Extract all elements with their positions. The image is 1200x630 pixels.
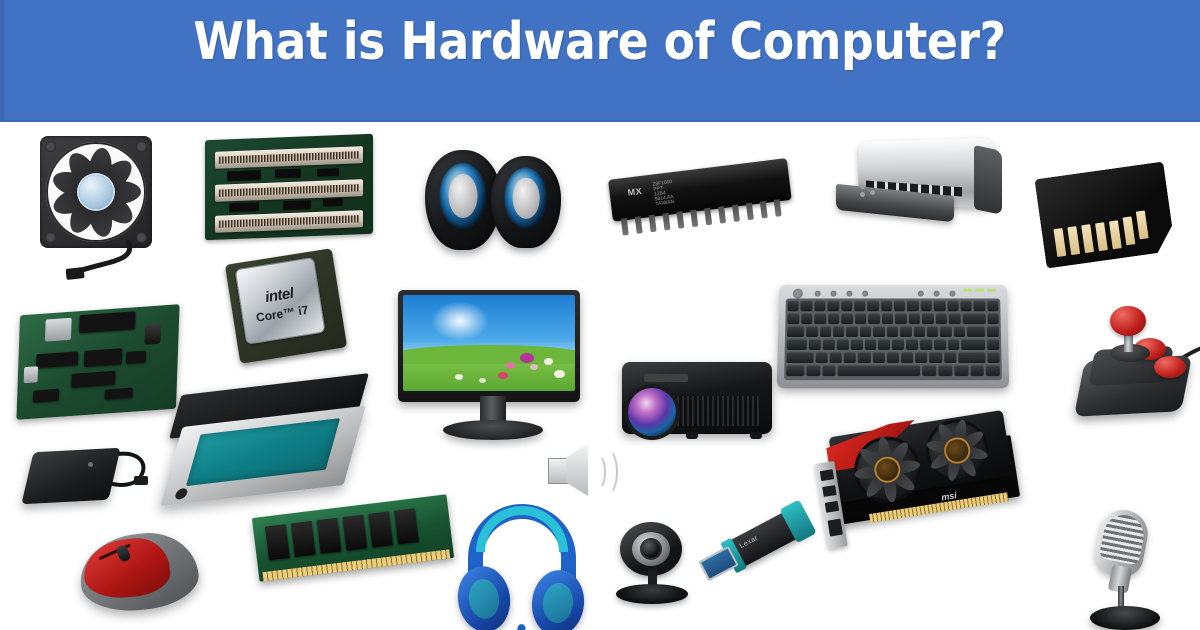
hardware-item-headphones[interactable]: Headphones (450, 504, 600, 630)
scanner-power-button[interactable] (174, 488, 189, 500)
usb-drive-icon: Lexar (688, 487, 830, 613)
webcam-icon (620, 522, 682, 576)
circuit-board-icon (16, 304, 179, 420)
poster-page: What is Hardware of Computer? (0, 0, 1200, 630)
joystick-handle[interactable] (1110, 306, 1146, 336)
hardware-item-joystick[interactable]: Joystick (1080, 310, 1200, 430)
joystick-button-2[interactable] (1154, 356, 1186, 378)
hardware-item-ram[interactable]: RAM Module (255, 506, 465, 596)
keyboard-icon (777, 285, 1010, 388)
cpu-icon: intel Core™ i7 (225, 248, 347, 364)
hardware-item-keyboard[interactable]: Keyboard (778, 284, 1013, 394)
scanner-glass (186, 418, 340, 486)
hardware-item-speakers[interactable]: Speakers (425, 144, 570, 259)
hardware-item-cooling-fan[interactable]: Cooling Fan (40, 136, 160, 286)
hardware-item-ic-chip[interactable]: MX 28F1000PPT-12B49814 AATAIWAN Integrat… (608, 180, 798, 270)
hardware-item-webcam[interactable]: Webcam (608, 522, 698, 612)
fan-power-cable (66, 240, 158, 282)
ram-module-icon (252, 494, 454, 581)
external-drive-icon (28, 442, 132, 508)
monitor-screen (403, 295, 575, 391)
hardware-item-monitor[interactable]: Monitor (398, 290, 588, 450)
graphics-card-icon: msi (810, 403, 1026, 553)
hardware-gallery: Cooling Fan Expansion Slot Board (0, 122, 1200, 630)
expansion-slot-board-icon (205, 134, 373, 240)
page-title: What is Hardware of Computer? (194, 16, 1006, 68)
speaker-right-icon (491, 156, 561, 248)
hardware-item-printer[interactable]: Printer (830, 134, 1010, 239)
ic-chip-marking: MX (627, 186, 643, 198)
hardware-item-cpu[interactable]: intel Core™ i7 Processor (232, 256, 352, 366)
mouse-icon (76, 528, 201, 616)
hardware-item-speaker-output[interactable]: Sound Output (548, 444, 618, 500)
hardware-item-mouse[interactable]: Mouse (80, 534, 205, 619)
hardware-item-memory-card[interactable]: microSD Memory Card (1040, 170, 1180, 270)
hardware-item-motherboard[interactable]: Circuit Board (18, 310, 188, 420)
memory-card-icon (1034, 161, 1175, 268)
hardware-item-projector[interactable]: Projector (622, 362, 787, 457)
hardware-item-usb-drive[interactable]: Lexar USB Flash Drive (700, 510, 830, 610)
fan-blades (49, 145, 143, 239)
hardware-item-scanner[interactable]: Flatbed Scanner (175, 384, 375, 514)
monitor-icon (398, 290, 580, 402)
hardware-item-graphics-card[interactable]: msi Graphics Card (818, 418, 1028, 583)
speaker-left-icon (425, 150, 501, 250)
projector-lens (628, 388, 676, 436)
hardware-item-microphone[interactable]: Microphone (1080, 510, 1180, 630)
header-banner: What is Hardware of Computer? (0, 0, 1200, 122)
banner-left-edge (0, 0, 5, 122)
hardware-item-expansion-slots[interactable]: Expansion Slot Board (205, 137, 380, 247)
hardware-item-external-drive[interactable]: External Hard Drive (28, 442, 148, 522)
speaker-output-icon (548, 444, 612, 496)
